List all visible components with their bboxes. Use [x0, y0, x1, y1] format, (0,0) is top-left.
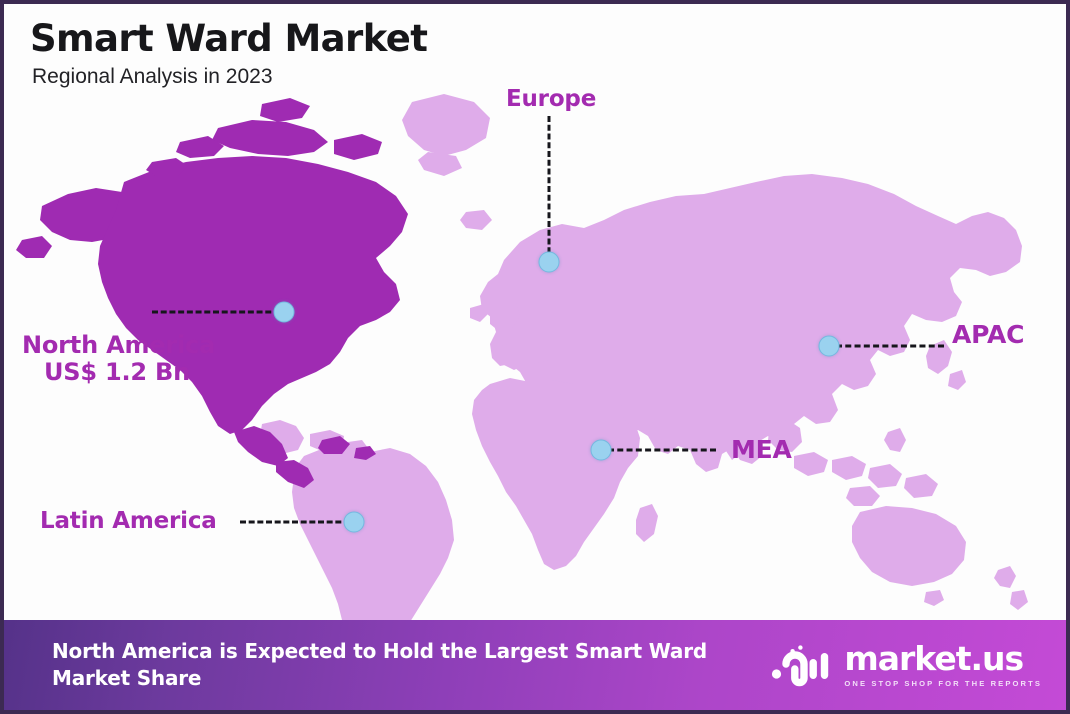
leader-line-europe [548, 116, 551, 262]
region-label-north-america-name: North America [22, 331, 215, 359]
region-value-north-america: US$ 1.2 Bn [22, 359, 212, 386]
market-us-logo-mark-icon [770, 641, 834, 689]
map-region-north-america-highlight [16, 98, 408, 488]
logo-tagline: ONE STOP SHOP FOR THE REPORTS [844, 679, 1042, 688]
logo-text-block: market.us ONE STOP SHOP FOR THE REPORTS [844, 642, 1042, 688]
map-regions-other [260, 94, 1028, 624]
region-label-apac: APAC [952, 321, 1024, 349]
region-label-latin-america-name: Latin America [40, 508, 217, 534]
region-label-north-america: North America US$ 1.2 Bn [22, 332, 212, 386]
marker-apac [819, 336, 840, 357]
leader-line-north-america [152, 311, 280, 314]
infographic-frame: Smart Ward Market Regional Analysis in 2… [0, 0, 1070, 714]
page-subtitle: Regional Analysis in 2023 [32, 65, 427, 89]
bottom-banner: North America is Expected to Hold the La… [4, 620, 1066, 710]
leader-line-mea [608, 449, 716, 452]
logo-name: market.us [844, 642, 1042, 675]
leader-line-latin-america [240, 521, 350, 524]
banner-headline: North America is Expected to Hold the La… [52, 638, 742, 692]
marker-north-america [274, 302, 295, 323]
header: Smart Ward Market Regional Analysis in 2… [30, 20, 427, 89]
marker-europe [539, 252, 560, 273]
brand-logo: market.us ONE STOP SHOP FOR THE REPORTS [770, 641, 1042, 689]
region-label-europe: Europe [506, 87, 596, 113]
marker-mea [591, 440, 612, 461]
region-label-europe-name: Europe [506, 86, 596, 112]
region-label-latin-america: Latin America [40, 509, 217, 535]
leader-line-apac [836, 345, 944, 348]
page-title: Smart Ward Market [30, 20, 427, 59]
region-label-mea: MEA [731, 436, 792, 464]
region-label-mea-name: MEA [731, 435, 792, 464]
region-label-apac-name: APAC [952, 320, 1024, 349]
marker-latin-america [344, 512, 365, 533]
